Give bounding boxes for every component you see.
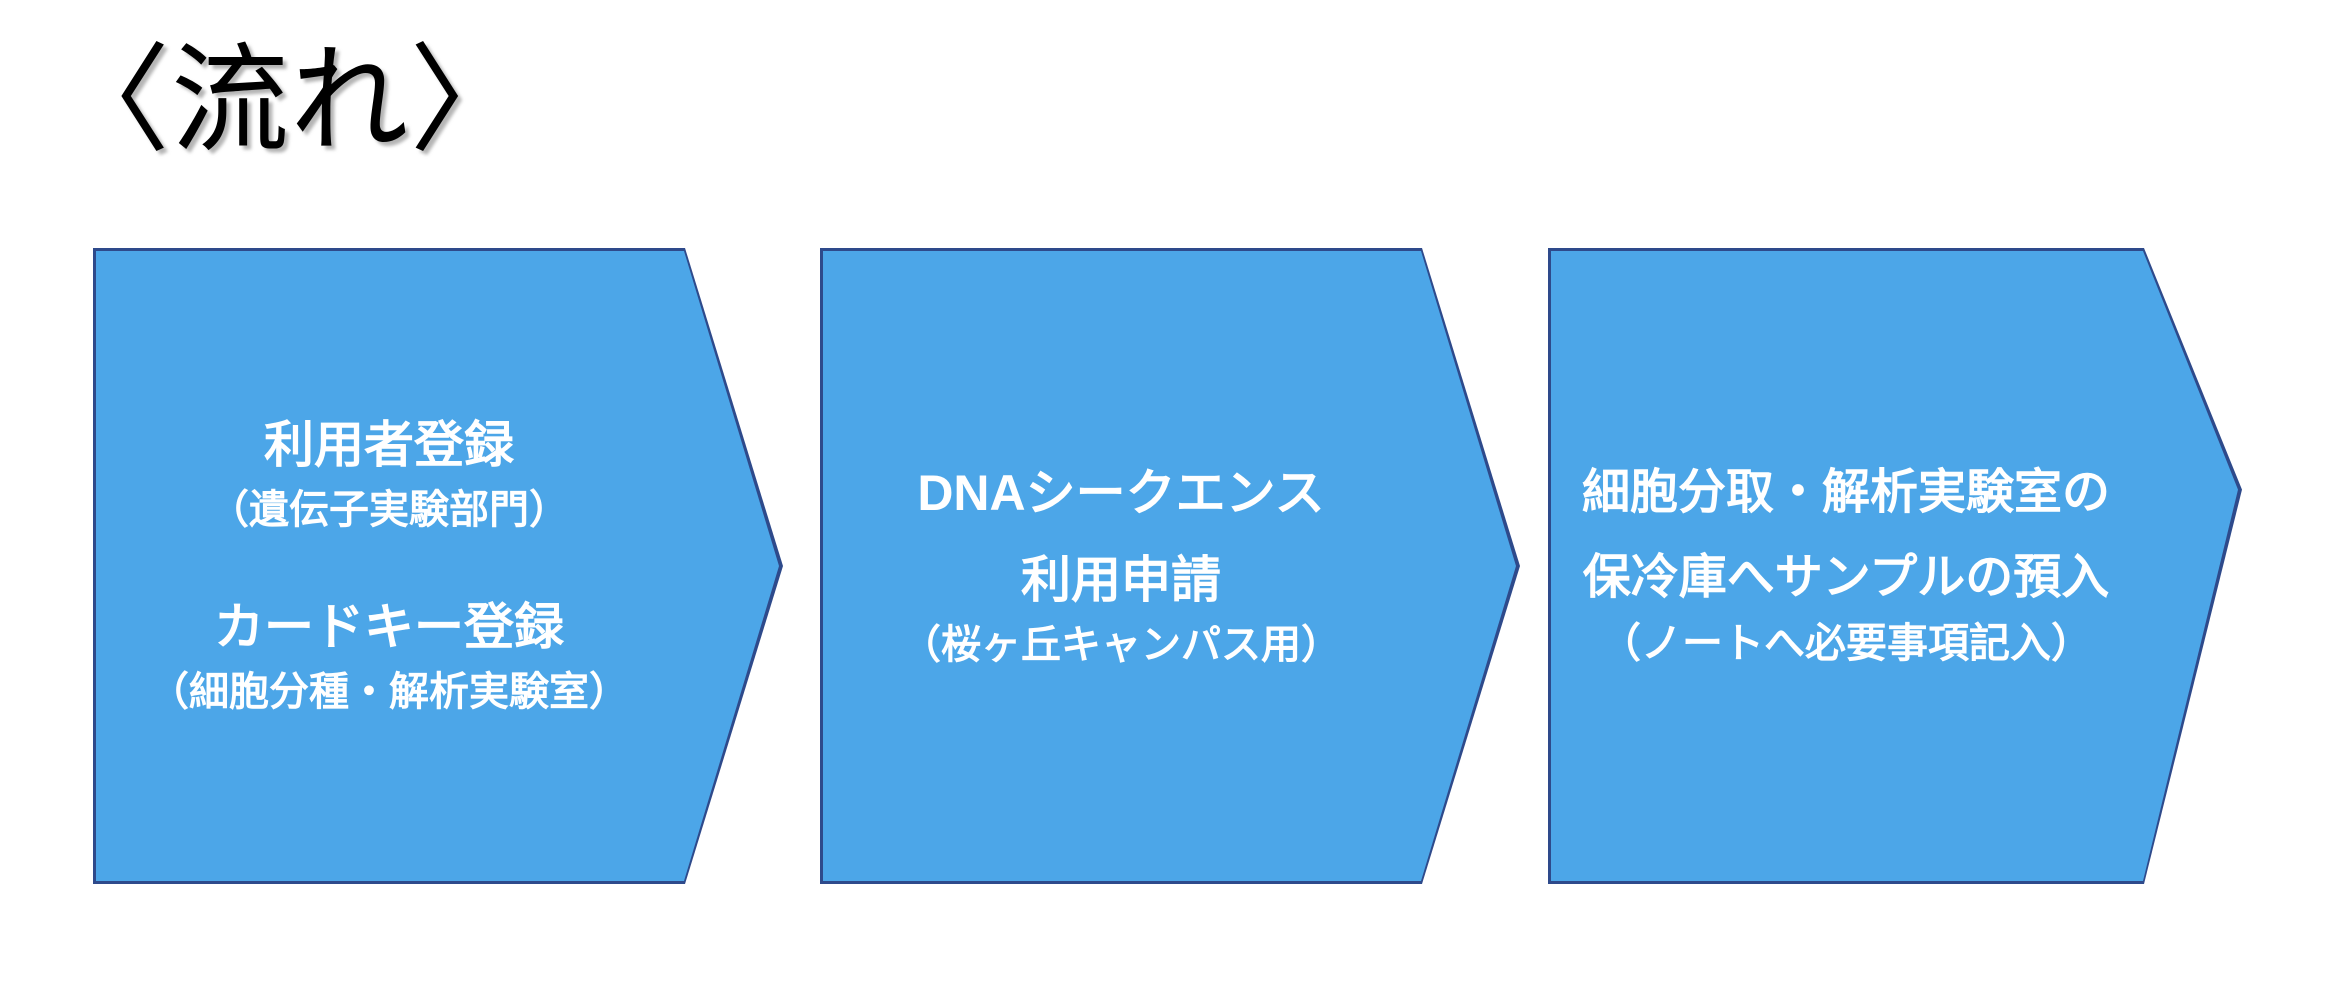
chevron-fill-2 bbox=[820, 248, 1520, 884]
page-title: 〈流れ〉 bbox=[52, 28, 529, 176]
chevron-fill-3 bbox=[1548, 248, 2242, 884]
process-flow-diagram: 利用者登録 （遺伝子実験部門） カードキー登録 （細胞分種・解析実験室） DNA… bbox=[0, 248, 2340, 888]
flow-step-3[interactable]: 細胞分取・解析実験室の 保冷庫へサンプルの預入 （ノートへ必要事項記入） bbox=[1548, 248, 2242, 884]
chevron-fill-1 bbox=[93, 248, 783, 884]
flow-step-1[interactable]: 利用者登録 （遺伝子実験部門） カードキー登録 （細胞分種・解析実験室） bbox=[93, 248, 783, 884]
flow-step-2[interactable]: DNAシークエンス 利用申請 （桜ヶ丘キャンパス用） bbox=[820, 248, 1520, 884]
